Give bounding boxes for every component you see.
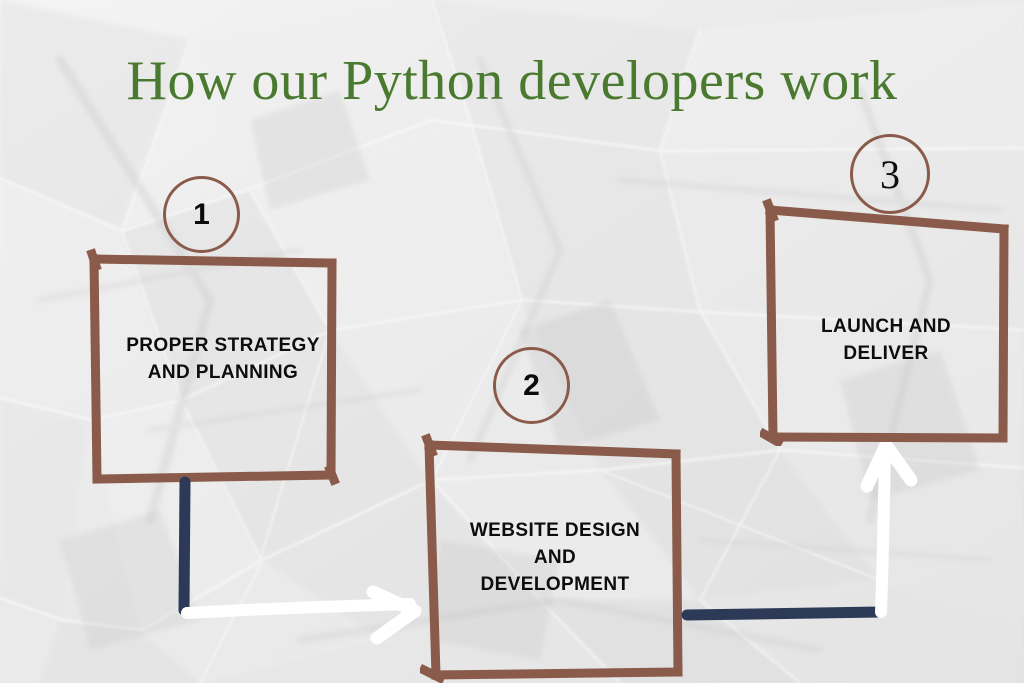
connector-navy-stem-1 bbox=[184, 482, 185, 610]
connector-white-shaft-1 bbox=[187, 604, 410, 613]
connector-white-shaft-2 bbox=[881, 452, 885, 612]
step-number-1: 1 bbox=[193, 198, 210, 232]
connector-step2-to-step3 bbox=[675, 430, 920, 640]
step-number-2: 2 bbox=[523, 369, 540, 403]
step-label-1: PROPER STRATEGY AND PLANNING bbox=[92, 333, 354, 387]
step-label-3: LAUNCH AND DELIVER bbox=[766, 314, 1006, 368]
connector-navy-stem-2 bbox=[687, 612, 880, 615]
step-number-circle-2: 2 bbox=[493, 347, 570, 424]
step-number-circle-1: 1 bbox=[163, 176, 240, 253]
infographic-canvas: How our Python developers work 1 PROPER … bbox=[0, 0, 1024, 683]
step-label-2: WEBSITE DESIGN AND DEVELOPMENT bbox=[428, 518, 682, 599]
connector-step1-to-step2 bbox=[165, 470, 435, 650]
page-title: How our Python developers work bbox=[0, 52, 1024, 111]
step-number-3: 3 bbox=[880, 151, 900, 198]
